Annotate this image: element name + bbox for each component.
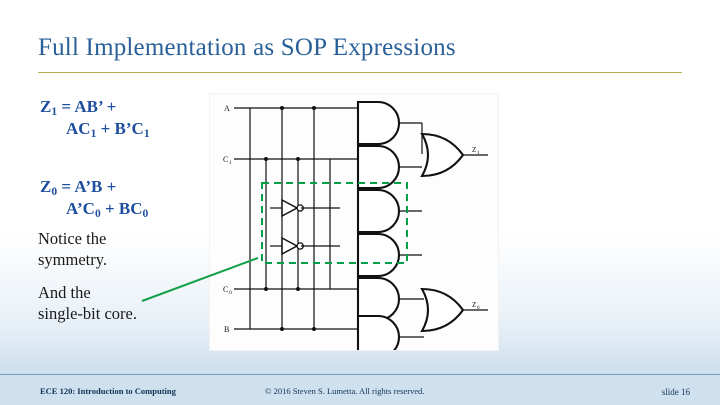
equation-z0: Z0 = A’B + A’C0 + BC0 (40, 176, 148, 220)
and-gate-2 (358, 146, 399, 188)
equation-z0-line1: Z0 = A’B + (40, 177, 116, 196)
svg-text:0: 0 (229, 290, 232, 296)
slide: Full Implementation as SOP Expressions Z… (0, 0, 720, 405)
footer-course: ECE 120: Introduction to Computing (40, 386, 176, 396)
svg-text:C: C (223, 285, 228, 294)
or-gate-2 (422, 289, 463, 331)
equation-z1-line1: Z1 = AB’ + (40, 97, 116, 116)
note-core-line1: And the (38, 283, 137, 304)
note-symmetry-line2: symmetry. (38, 250, 107, 271)
inverter-2 (282, 238, 303, 254)
svg-text:A: A (224, 104, 230, 113)
svg-text:C: C (223, 155, 228, 164)
note-core: And the single-bit core. (38, 283, 137, 324)
note-symmetry: Notice the symmetry. (38, 229, 107, 270)
and-gate-6 (358, 316, 399, 350)
circuit-figure: A C 1 C 0 B (209, 93, 499, 351)
or-gate-1 (422, 134, 463, 176)
and-gate-1 (358, 102, 399, 144)
equation-z1: Z1 = AB’ + AC1 + B’C1 (40, 96, 150, 140)
svg-text:1: 1 (229, 160, 232, 166)
and-gate-4 (358, 234, 399, 276)
and-gate-3 (358, 190, 399, 232)
inverter-1 (282, 200, 303, 216)
circuit-diagram: A C 1 C 0 B (210, 94, 498, 350)
footer-copyright: © 2016 Steven S. Lumetta. All rights res… (265, 386, 424, 396)
equation-z1-line2: AC1 + B’C1 (40, 118, 150, 140)
svg-text:Z: Z (472, 301, 476, 309)
equation-z0-line2: A’C0 + BC0 (40, 198, 148, 220)
note-symmetry-line1: Notice the (38, 229, 107, 250)
footer-slide-number: slide 16 (662, 387, 690, 397)
and-gate-5 (358, 278, 399, 320)
svg-text:Z: Z (472, 146, 476, 154)
title-divider (38, 72, 682, 73)
svg-text:B: B (224, 325, 229, 334)
page-title: Full Implementation as SOP Expressions (38, 34, 456, 62)
note-core-line2: single-bit core. (38, 304, 137, 325)
